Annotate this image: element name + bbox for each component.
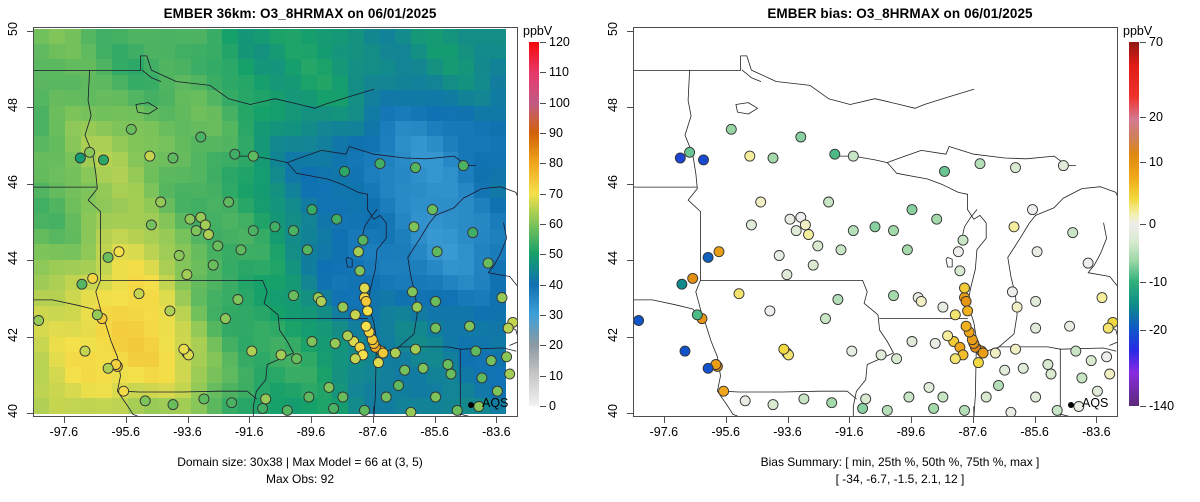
monitor-site-marker [950,354,960,364]
y-tick [27,260,33,261]
monitor-site-marker [924,382,934,392]
colorbar-tick-label: 10 [549,369,563,383]
colorbar-tick-label: 20 [1149,110,1163,124]
monitor-site-marker [889,291,899,301]
x-tick-label: -95.6 [696,425,756,439]
monitor-site-marker [452,405,462,415]
y-tick [27,184,33,185]
monitor-site-marker [799,394,809,404]
x-tick-label: -87.6 [343,425,403,439]
monitor-site-marker [1102,352,1112,362]
monitor-site-marker [714,247,724,257]
panel-model: EMBER 36km: O3_8HRMAX on 06/01/2025 AQS … [0,0,600,502]
monitor-site-marker [1006,407,1016,416]
y-tick [27,31,33,32]
monitor-site-marker [1077,373,1087,383]
monitor-site-marker [847,346,857,356]
monitor-site-marker [1068,228,1078,238]
monitor-site-marker [848,226,858,236]
monitor-site-marker [307,205,317,215]
monitor-site-marker [343,331,353,341]
monitor-site-marker [443,360,453,370]
monitor-site-marker [804,230,814,240]
monitor-site-marker [699,155,709,165]
monitor-site-marker [961,296,971,306]
monitor-site-marker [355,266,365,276]
colorbar-tick [1140,282,1146,283]
monitor-site-marker [126,124,136,134]
colorbar-tick [1140,330,1146,331]
x-tick-label: -97.6 [634,425,694,439]
monitor-site-marker [808,260,818,270]
colorbar-tick [540,224,546,225]
monitor-site-marker [358,235,368,245]
monitor-site-marker [146,220,156,230]
colorbar-tick [1140,117,1146,118]
monitor-site-marker [168,153,178,163]
monitor-site-marker [258,403,268,413]
y-tick-label: 44 [6,247,20,269]
x-tick-label: -89.6 [881,425,941,439]
monitor-site-marker [726,124,736,134]
aqs-legend-dot [468,402,474,408]
x-tick [788,417,789,423]
x-tick-label: -83.6 [1066,425,1126,439]
monitor-site-marker [740,396,750,406]
monitor-site-marker [330,338,340,348]
monitor-site-marker [77,279,87,289]
monitor-site-marker [307,337,317,347]
x-tick-label: -95.6 [96,425,156,439]
monitor-site-marker [813,241,823,251]
monitor-site-marker [904,392,914,402]
monitor-site-marker [1000,365,1010,375]
monitor-site-marker [932,214,942,224]
monitor-site-marker [360,405,370,415]
map-frame-model [33,27,518,417]
y-tick-label: 42 [606,324,620,346]
monitor-site-marker [103,363,113,373]
monitor-site-marker [960,405,970,415]
monitor-site-marker [953,247,963,257]
monitor-site-marker [394,381,404,391]
colorbar-tick-label: 0 [549,399,556,413]
monitor-site-marker [1058,161,1068,171]
monitor-site-marker [1009,222,1019,232]
monitor-site-marker [363,306,373,316]
monitor-site-marker [99,155,109,165]
monitor-site-marker [492,386,502,396]
colorbar-tick-label: 70 [1149,35,1163,49]
monitor-site-marker [973,358,983,368]
monitor-site-marker [227,398,237,408]
y-tick [627,337,633,338]
monitor-site-marker [958,235,968,245]
monitor-site-marker [185,214,195,224]
x-tick [1096,417,1097,423]
monitor-site-marker [247,346,257,356]
monitor-site-marker [765,306,775,316]
colorbar-model [529,42,539,406]
monitor-site-marker [428,205,438,215]
monitor-site-marker [88,273,98,283]
x-tick-label: -85.6 [405,425,465,439]
colorbar-tick-label: -10 [1149,275,1167,289]
y-tick [27,337,33,338]
monitor-site-marker [975,159,985,169]
monitor-site-marker [1052,405,1062,415]
monitor-site-marker [233,295,243,305]
x-tick [64,417,65,423]
monitor-site-marker [882,405,892,415]
monitor-site-marker [361,321,371,331]
monitor-site-marker [292,354,302,364]
monitor-site-marker [248,151,258,161]
footer-max-obs: Max Obs: 92 [0,472,600,486]
monitor-site-marker [486,356,496,366]
colorbar-tick [540,254,546,255]
x-tick [973,417,974,423]
monitor-site-marker [858,403,868,413]
monitor-site-marker [182,270,192,280]
monitor-site-marker [1031,296,1041,306]
y-tick-label: 40 [606,400,620,422]
monitor-site-marker [1105,369,1115,379]
map-frame-bias [633,27,1118,417]
y-tick [627,184,633,185]
monitor-site-marker [1032,247,1042,257]
monitor-site-marker [338,302,348,312]
monitor-site-marker [409,222,419,232]
monitor-site-marker [930,338,940,348]
colorbar-tick-label: -140 [1149,399,1174,413]
monitor-site-marker [938,302,948,312]
monitor-site-marker [340,166,350,176]
monitor-site-marker [119,386,129,396]
monitor-site-marker [446,369,456,379]
monitor-site-marker [179,344,189,354]
monitor-site-marker [329,403,339,413]
colorbar-tick [540,133,546,134]
colorbar-tick-label: 70 [549,187,563,201]
colorbar-tick-label: 0 [1149,217,1156,231]
monitor-site-marker [431,296,441,306]
colorbar-tick [540,194,546,195]
aqs-legend-label-bias: AQS [1082,396,1108,410]
colorbar-tick [540,406,546,407]
monitor-site-marker [703,363,713,373]
colorbar-bias [1129,42,1139,406]
monitor-site-marker [145,151,155,161]
monitor-site-marker [302,245,312,255]
monitor-site-marker [75,153,85,163]
colorbar-tick [1140,406,1146,407]
monitor-site-marker [943,331,953,341]
monitor-site-marker [827,398,837,408]
monitor-site-marker [390,348,400,358]
monitor-site-marker [497,293,507,303]
monitor-site-marker [938,392,948,402]
footer-bias-summary-values: [ -34, -6.7, -1.5, 2.1, 12 ] [600,472,1200,486]
monitor-site-marker [950,310,960,320]
x-tick [664,417,665,423]
monitor-site-marker [978,348,988,358]
monitor-site-marker [688,273,698,283]
page-title-bias: EMBER bias: O3_8HRMAX on 06/01/2025 [600,6,1200,21]
monitor-site-marker [411,163,421,173]
y-tick-label: 48 [6,94,20,116]
monitor-site-marker [779,344,789,354]
monitor-site-marker [375,159,385,169]
colorbar-tick-label: 90 [549,126,563,140]
monitor-site-marker [836,245,846,255]
colorbar-tick-label: 110 [549,65,569,79]
monitor-site-marker [289,291,299,301]
monitor-site-marker [324,382,334,392]
monitor-site-marker [1031,323,1041,333]
x-tick [849,417,850,423]
colorbar-tick [540,315,546,316]
colorbar-tick-label: 30 [549,308,563,322]
monitor-site-marker [1092,386,1102,396]
colorbar-tick-label: -20 [1149,323,1167,337]
monitor-site-marker [929,403,939,413]
monitor-site-marker [361,296,371,306]
monitor-site-marker [165,306,175,316]
monitor-site-marker [200,220,210,230]
monitor-site-marker [1046,369,1056,379]
monitor-site-marker [685,147,695,157]
monitor-site-marker [994,381,1004,391]
monitor-site-marker [468,228,478,238]
y-tick-label: 40 [6,400,20,422]
page-title-model: EMBER 36km: O3_8HRMAX on 06/01/2025 [0,6,600,21]
monitor-site-marker [1011,344,1021,354]
monitor-site-marker [1028,205,1038,215]
colorbar-unit-bias: ppbV [1123,24,1152,38]
monitor-site-marker [373,358,383,368]
monitor-site-marker [961,321,971,331]
bias-observation-points [634,28,1117,416]
monitor-site-marker [431,392,441,402]
colorbar-tick-label: 120 [549,35,570,49]
x-tick [126,417,127,423]
monitor-site-marker [907,337,917,347]
colorbar-tick [540,376,546,377]
colorbar-tick [540,163,546,164]
x-tick [188,417,189,423]
y-tick [627,260,633,261]
monitor-site-marker [870,222,880,232]
monitor-site-marker [304,392,314,402]
monitor-site-marker [134,289,144,299]
monitor-site-marker [261,394,271,404]
colorbar-tick [1140,224,1146,225]
monitor-site-marker [208,260,218,270]
colorbar-tick-label: 60 [549,217,563,231]
colorbar-tick-label: 40 [549,278,563,292]
y-tick [627,107,633,108]
y-tick-label: 46 [6,171,20,193]
y-tick [27,413,33,414]
aqs-legend-label: AQS [482,396,508,410]
monitor-site-marker [892,354,902,364]
monitor-site-marker [221,314,231,324]
monitor-site-marker [791,226,801,236]
monitor-site-marker [981,392,991,402]
monitor-site-marker [353,247,363,257]
monitor-site-marker [465,321,475,331]
monitor-site-marker [907,205,917,215]
x-tick-label: -89.6 [281,425,341,439]
monitor-site-marker [1065,321,1075,331]
monitor-site-marker [458,161,468,171]
monitor-site-marker [1007,287,1017,297]
y-tick-label: 42 [6,324,20,346]
colorbar-tick [540,285,546,286]
monitor-site-marker [350,310,360,320]
monitor-site-marker [1097,293,1107,303]
monitor-site-marker [1031,392,1041,402]
monitor-site-marker [821,314,831,324]
aqs-observation-points [34,28,517,416]
monitor-site-marker [719,386,729,396]
footer-bias-summary-header: Bias Summary: [ min, 25th %, 50th %, 75t… [600,455,1200,469]
monitor-site-marker [955,266,965,276]
monitor-site-marker [692,310,702,320]
monitor-site-marker [756,197,766,207]
monitor-site-marker [703,252,713,262]
colorbar-tick [540,345,546,346]
monitor-site-marker [270,222,280,232]
monitor-site-marker [785,214,795,224]
x-tick [496,417,497,423]
x-tick-label: -87.6 [943,425,1003,439]
monitor-site-marker [400,365,410,375]
monitor-site-marker [92,310,102,320]
x-tick-label: -85.6 [1005,425,1065,439]
monitor-site-marker [680,346,690,356]
x-tick-label: -91.6 [819,425,879,439]
y-tick [627,31,633,32]
monitor-site-marker [80,346,90,356]
monitor-site-marker [940,166,950,176]
panel-bias: EMBER bias: O3_8HRMAX on 06/01/2025 AQS … [600,0,1200,502]
monitor-site-marker [224,197,234,207]
colorbar-tick [540,103,546,104]
monitor-site-marker [199,394,209,404]
monitor-site-marker [471,346,481,356]
monitor-site-marker [431,323,441,333]
monitor-site-marker [502,352,512,362]
aqs-legend-dot-bias [1068,402,1074,408]
y-tick-label: 46 [606,171,620,193]
monitor-site-marker [774,251,784,261]
monitor-site-marker [1018,363,1028,373]
monitor-site-marker [204,230,214,240]
monitor-site-marker [1083,258,1093,268]
monitor-site-marker [103,252,113,262]
x-tick-label: -97.6 [34,425,94,439]
colorbar-tick-label: 50 [549,247,563,261]
monitor-site-marker [196,132,206,142]
x-tick [726,417,727,423]
monitor-site-marker [990,348,1000,358]
monitor-site-marker [360,283,370,293]
monitor-site-marker [800,220,810,230]
monitor-site-marker [213,241,223,251]
x-tick [911,417,912,423]
monitor-site-marker [916,296,926,306]
monitor-site-marker [675,153,685,163]
monitor-site-marker [114,247,124,257]
monitor-site-marker [824,197,834,207]
monitor-site-marker [833,295,843,305]
monitor-site-marker [745,151,755,161]
monitor-site-marker [411,344,421,354]
monitor-site-marker [503,323,513,333]
monitor-site-marker [236,245,246,255]
monitor-site-marker [902,245,912,255]
monitor-site-marker [174,251,184,261]
monitor-site-marker [796,132,806,142]
colorbar-tick [1140,42,1146,43]
monitor-site-marker [861,394,871,404]
colorbar-tick-label: 10 [1149,155,1163,169]
monitor-site-marker [276,350,286,360]
monitor-site-marker [505,369,515,379]
x-tick-label: -83.6 [466,425,526,439]
monitor-site-marker [1043,360,1053,370]
y-tick [627,413,633,414]
monitor-site-marker [289,226,299,236]
monitor-site-marker [332,214,342,224]
colorbar-tick [1140,162,1146,163]
y-tick-label: 50 [606,18,620,40]
x-tick [311,417,312,423]
monitor-site-marker [168,400,178,410]
monitor-site-marker [338,392,348,402]
monitor-site-marker [848,151,858,161]
monitor-site-marker [248,226,258,236]
figure-root: EMBER 36km: O3_8HRMAX on 06/01/2025 AQS … [0,0,1200,502]
monitor-site-marker [768,400,778,410]
monitor-site-marker [1103,323,1113,333]
y-tick-label: 48 [606,94,620,116]
monitor-site-marker [889,226,899,236]
x-tick [1035,417,1036,423]
monitor-site-marker [1086,356,1096,366]
monitor-site-marker [230,149,240,159]
monitor-site-marker [418,363,428,373]
x-tick-label: -91.6 [219,425,279,439]
monitor-site-marker [282,405,292,415]
colorbar-tick [540,72,546,73]
y-tick-label: 44 [606,247,620,269]
monitor-site-marker [963,306,973,316]
monitor-site-marker [1012,302,1022,312]
monitor-site-marker [378,348,388,358]
colorbar-tick-label: 100 [549,96,570,110]
x-tick [249,417,250,423]
monitor-site-marker [412,302,422,312]
monitor-site-marker [191,226,201,236]
monitor-site-marker [734,289,744,299]
footer-domain-info: Domain size: 30x38 | Max Model = 66 at (… [0,455,600,469]
monitor-site-marker [830,149,840,159]
monitor-site-marker [1011,163,1021,173]
colorbar-tick-label: 80 [549,156,563,170]
